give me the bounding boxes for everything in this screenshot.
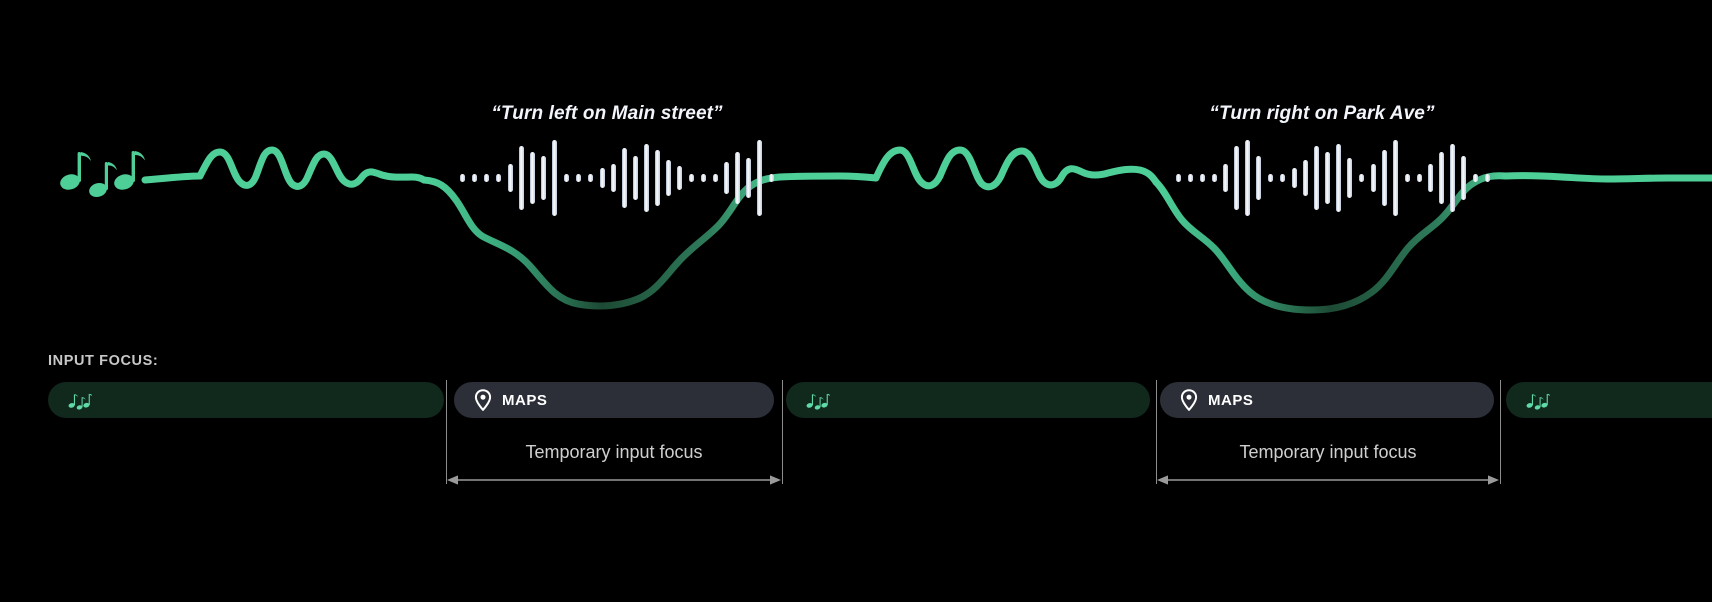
- voice-waveform-1: [460, 140, 774, 216]
- focus-segment-music-2[interactable]: [786, 382, 1150, 418]
- canvas-root: “Turn left on Main street” “Turn right o…: [0, 0, 1712, 602]
- segment-divider-1: [446, 380, 447, 484]
- music-wave-active-3: [1506, 176, 1712, 179]
- caption-turn-right: “Turn right on Park Ave”: [1209, 103, 1434, 125]
- caption-turn-left: “Turn left on Main street”: [491, 103, 722, 125]
- focus-segment-music-3[interactable]: [1506, 382, 1712, 418]
- input-focus-label: INPUT FOCUS:: [48, 353, 158, 369]
- music-wave-active-1: [145, 150, 424, 186]
- temporary-focus-label-2: Temporary input focus: [1239, 442, 1416, 463]
- voice-waveform-2: [1176, 140, 1490, 216]
- map-pin-icon: [474, 389, 492, 411]
- focus-segment-label: MAPS: [502, 392, 547, 409]
- input-focus-panel: INPUT FOCUS:: [0, 330, 1712, 602]
- waveform-visualization: “Turn left on Main street” “Turn right o…: [0, 0, 1712, 330]
- music-notes-icon: [806, 390, 830, 410]
- segment-divider-4: [1500, 380, 1501, 484]
- waveform-svg: [0, 0, 1712, 330]
- map-pin-icon: [1180, 389, 1198, 411]
- focus-segment-label: MAPS: [1208, 392, 1253, 409]
- temporary-focus-arrow-2: [1156, 473, 1500, 487]
- focus-segment-maps-1[interactable]: MAPS: [454, 382, 774, 418]
- temporary-focus-arrow-1: [446, 473, 782, 487]
- segment-divider-2: [782, 380, 783, 484]
- temporary-focus-label-1: Temporary input focus: [525, 442, 702, 463]
- focus-segment-music-1[interactable]: [48, 382, 444, 418]
- focus-segment-maps-2[interactable]: MAPS: [1160, 382, 1494, 418]
- music-wave-ducked-1: [424, 177, 780, 306]
- music-notes-icon: [58, 151, 145, 199]
- segment-divider-3: [1156, 380, 1157, 484]
- music-notes-icon: [1526, 390, 1550, 410]
- music-wave-active-2: [780, 150, 1156, 187]
- music-notes-icon: [68, 390, 92, 410]
